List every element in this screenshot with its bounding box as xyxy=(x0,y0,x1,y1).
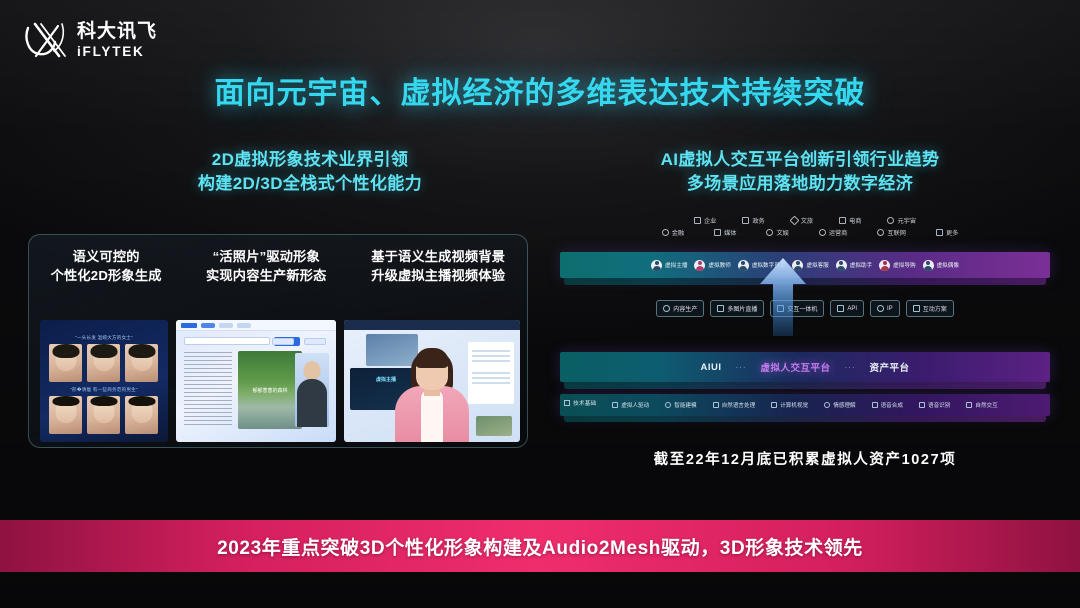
banner-text: 2023年重点突破3D个性化形象构建及Audio2Mesh驱动，3D形象技术领先 xyxy=(217,533,863,560)
industry-row-1: 企业 政务 文旅 电商 元宇宙 xyxy=(560,216,1050,225)
editor-avatar-preview xyxy=(295,353,329,427)
face-thumb xyxy=(49,396,82,434)
foundation-item[interactable]: 计算机视觉 xyxy=(771,401,808,409)
bank-icon xyxy=(742,217,749,224)
caption-line1: 语义可控的 xyxy=(28,247,184,266)
editor-tab xyxy=(219,323,233,328)
avatar-chip[interactable]: 虚拟导购 xyxy=(879,260,915,271)
entertainment-icon xyxy=(766,229,773,236)
industry-item[interactable]: 文娱 xyxy=(766,228,788,237)
caption-item: “活照片”驱动形象 实现内容生产新形态 xyxy=(184,247,348,285)
foundation-item[interactable]: 自然交互 xyxy=(966,401,997,409)
media-icon xyxy=(714,229,721,236)
avatar-icon xyxy=(651,260,662,271)
left-heading-line2: 构建2D/3D全栈式个性化能力 xyxy=(130,172,490,196)
capability-chip[interactable]: IP xyxy=(870,300,900,317)
anchor-side-image xyxy=(476,416,512,436)
caption-item: 语义可控的 个性化2D形象生成 xyxy=(28,247,184,285)
nlp-icon xyxy=(713,402,719,408)
editor-tab-active xyxy=(201,323,215,328)
caption-line2: 实现内容生产新形态 xyxy=(184,266,348,285)
interaction-icon xyxy=(966,402,972,408)
foundation-items: 虚拟人驱动 智能建模 自然语言处理 计算机视觉 情感理解 语音合成 语音识别 自… xyxy=(560,394,1050,416)
foundation-item[interactable]: 虚拟人驱动 xyxy=(612,401,649,409)
face-thumb xyxy=(87,344,120,382)
live-icon xyxy=(717,305,724,312)
platform-separator: ··· xyxy=(735,363,746,372)
left-column-heading: 2D虚拟形象技术业界引领 构建2D/3D全栈式个性化能力 xyxy=(130,148,490,196)
caption-line2: 个性化2D形象生成 xyxy=(28,266,184,285)
foundation-item[interactable]: 自然语言处理 xyxy=(713,401,756,409)
screenshot-video-editor: 郁郁葱葱的森林 xyxy=(176,320,336,442)
brand-name-en: iFLYTEK xyxy=(77,45,157,59)
platform-list: AIUI ··· 虚拟人交互平台 ··· 资产平台 xyxy=(560,352,1050,382)
bottom-banner: 2023年重点突破3D个性化形象构建及Audio2Mesh驱动，3D形象技术领先 xyxy=(0,520,1080,572)
foundation-item[interactable]: 智能建模 xyxy=(665,401,696,409)
api-icon xyxy=(837,305,844,312)
editor-background-video: 郁郁葱葱的森林 xyxy=(238,351,302,429)
bag-icon xyxy=(839,217,846,224)
platform-aiui[interactable]: AIUI xyxy=(700,362,721,373)
right-heading-line2: 多场景应用落地助力数字经济 xyxy=(590,172,1010,196)
avatar-chip[interactable]: 虚拟教师 xyxy=(694,260,730,271)
industry-item[interactable]: 金融 xyxy=(662,228,684,237)
video-caption: 郁郁葱葱的森林 xyxy=(238,387,302,394)
left-captions: 语义可控的 个性化2D形象生成 “活照片”驱动形象 实现内容生产新形态 基于语义… xyxy=(28,247,528,285)
caption-line1: “活照片”驱动形象 xyxy=(184,247,348,266)
right-column-heading: AI虚拟人交互平台创新引领行业趋势 多场景应用落地助力数字经济 xyxy=(590,148,1010,196)
asr-icon xyxy=(919,402,925,408)
industry-item[interactable]: 政务 xyxy=(742,216,764,225)
industry-item[interactable]: 运营商 xyxy=(819,228,848,237)
foundation-item[interactable]: 情感理解 xyxy=(824,401,855,409)
face-thumb xyxy=(87,396,120,434)
avatar-icon xyxy=(879,260,890,271)
slide-root: 科大讯飞 iFLYTEK 面向元宇宙、虚拟经济的多维表达技术持续突破 2D虚拟形… xyxy=(0,0,1080,608)
avatar-icon xyxy=(738,260,749,271)
face-thumb xyxy=(125,396,158,434)
industry-item[interactable]: 更多 xyxy=(936,228,958,237)
industry-item[interactable]: 媒体 xyxy=(714,228,736,237)
editor-script-text xyxy=(184,352,232,428)
industry-row-2: 金融 媒体 文娱 运营商 互联网 更多 xyxy=(560,228,1050,237)
coin-icon xyxy=(662,229,669,236)
solution-icon xyxy=(913,305,920,312)
content-icon xyxy=(663,305,670,312)
left-screenshots: “一头长发 温婉大方的女士” “形�清瘦 有一些商务范的男生” xyxy=(40,320,520,442)
ip-icon xyxy=(877,305,884,312)
metaverse-icon xyxy=(887,217,894,224)
editor-secondary-button[interactable] xyxy=(272,338,294,345)
screenshot-news-anchor: 虚拟主播 xyxy=(344,320,520,442)
foundation-layer: 技术基础 虚拟人驱动 智能建模 自然语言处理 计算机视觉 情感理解 语音合成 语… xyxy=(560,394,1050,416)
brand-name-cn: 科大讯飞 xyxy=(77,22,157,41)
tts-icon xyxy=(872,402,878,408)
travel-icon xyxy=(789,216,799,226)
industry-item[interactable]: 互联网 xyxy=(877,228,906,237)
face-prompt-female: “一头长发 温婉大方的女士” xyxy=(46,335,162,341)
avatar-chip[interactable]: 虚拟偶像 xyxy=(923,260,959,271)
building-icon xyxy=(694,217,701,224)
cv-icon xyxy=(771,402,777,408)
anchor-article-panel xyxy=(468,342,514,404)
caption-line2: 升级虚拟主播视频体验 xyxy=(348,266,528,285)
brand-logo: 科大讯飞 iFLYTEK xyxy=(22,18,157,62)
industry-item[interactable]: 文旅 xyxy=(791,216,813,225)
right-heading-line1: AI虚拟人交互平台创新引领行业趋势 xyxy=(590,148,1010,172)
avatar-chip[interactable]: 虚拟助手 xyxy=(836,260,872,271)
asset-stat-text: 截至22年12月底已积累虚拟人资产1027项 xyxy=(560,448,1050,469)
iflytek-x-logo-icon xyxy=(22,18,68,62)
caption-line1: 基于语义生成视频背景 xyxy=(348,247,528,266)
avatar-icon xyxy=(923,260,934,271)
platform-layer: AIUI ··· 虚拟人交互平台 ··· 资产平台 xyxy=(560,352,1050,382)
industry-item[interactable]: 电商 xyxy=(839,216,861,225)
avatar-icon xyxy=(694,260,705,271)
face-prompt-male: “形�清瘦 有一些商务范的男生” xyxy=(46,387,162,393)
editor-secondary-button[interactable] xyxy=(304,338,326,345)
platform-diagram: 企业 政务 文旅 电商 元宇宙 金融 媒体 文娱 运营商 互联网 更多 虚拟主播… xyxy=(560,216,1050,436)
platform-separator: ··· xyxy=(845,363,856,372)
drive-icon xyxy=(612,402,618,408)
avatar-icon xyxy=(836,260,847,271)
caption-item: 基于语义生成视频背景 升级虚拟主播视频体验 xyxy=(348,247,528,285)
foundation-item[interactable]: 语音识别 xyxy=(919,401,950,409)
internet-icon xyxy=(877,229,884,236)
editor-search-input[interactable] xyxy=(184,337,270,345)
face-thumb xyxy=(49,344,82,382)
platform-asset[interactable]: 资产平台 xyxy=(870,360,910,374)
screenshot-face-grid: “一头长发 温婉大方的女士” “形�清瘦 有一些商务范的男生” xyxy=(40,320,168,442)
face-thumb xyxy=(125,344,158,382)
industry-icons: 企业 政务 文旅 电商 元宇宙 金融 媒体 文娱 运营商 互联网 更多 xyxy=(560,216,1050,240)
industry-item[interactable]: 元宇宙 xyxy=(887,216,916,225)
model-icon xyxy=(665,402,671,408)
emotion-icon xyxy=(824,402,830,408)
editor-logo-icon xyxy=(181,323,197,328)
capability-chip[interactable]: API xyxy=(830,300,864,317)
foundation-item[interactable]: 语音合成 xyxy=(872,401,903,409)
carrier-icon xyxy=(819,229,826,236)
platform-virtual-human[interactable]: 虚拟人交互平台 xyxy=(760,360,830,374)
avatar-chip[interactable]: 虚拟主播 xyxy=(651,260,687,271)
more-icon xyxy=(936,229,943,236)
capability-chip[interactable]: 互动方案 xyxy=(906,300,954,317)
anchor-top-nav xyxy=(344,320,520,330)
industry-item[interactable]: 企业 xyxy=(694,216,716,225)
page-title: 面向元宇宙、虚拟经济的多维表达技术持续突破 xyxy=(0,68,1080,112)
capability-chip[interactable]: 内容生产 xyxy=(656,300,704,317)
virtual-anchor-figure xyxy=(393,344,471,442)
left-heading-line1: 2D虚拟形象技术业界引领 xyxy=(130,148,490,172)
editor-tab xyxy=(237,323,251,328)
up-arrow-icon xyxy=(756,258,810,336)
